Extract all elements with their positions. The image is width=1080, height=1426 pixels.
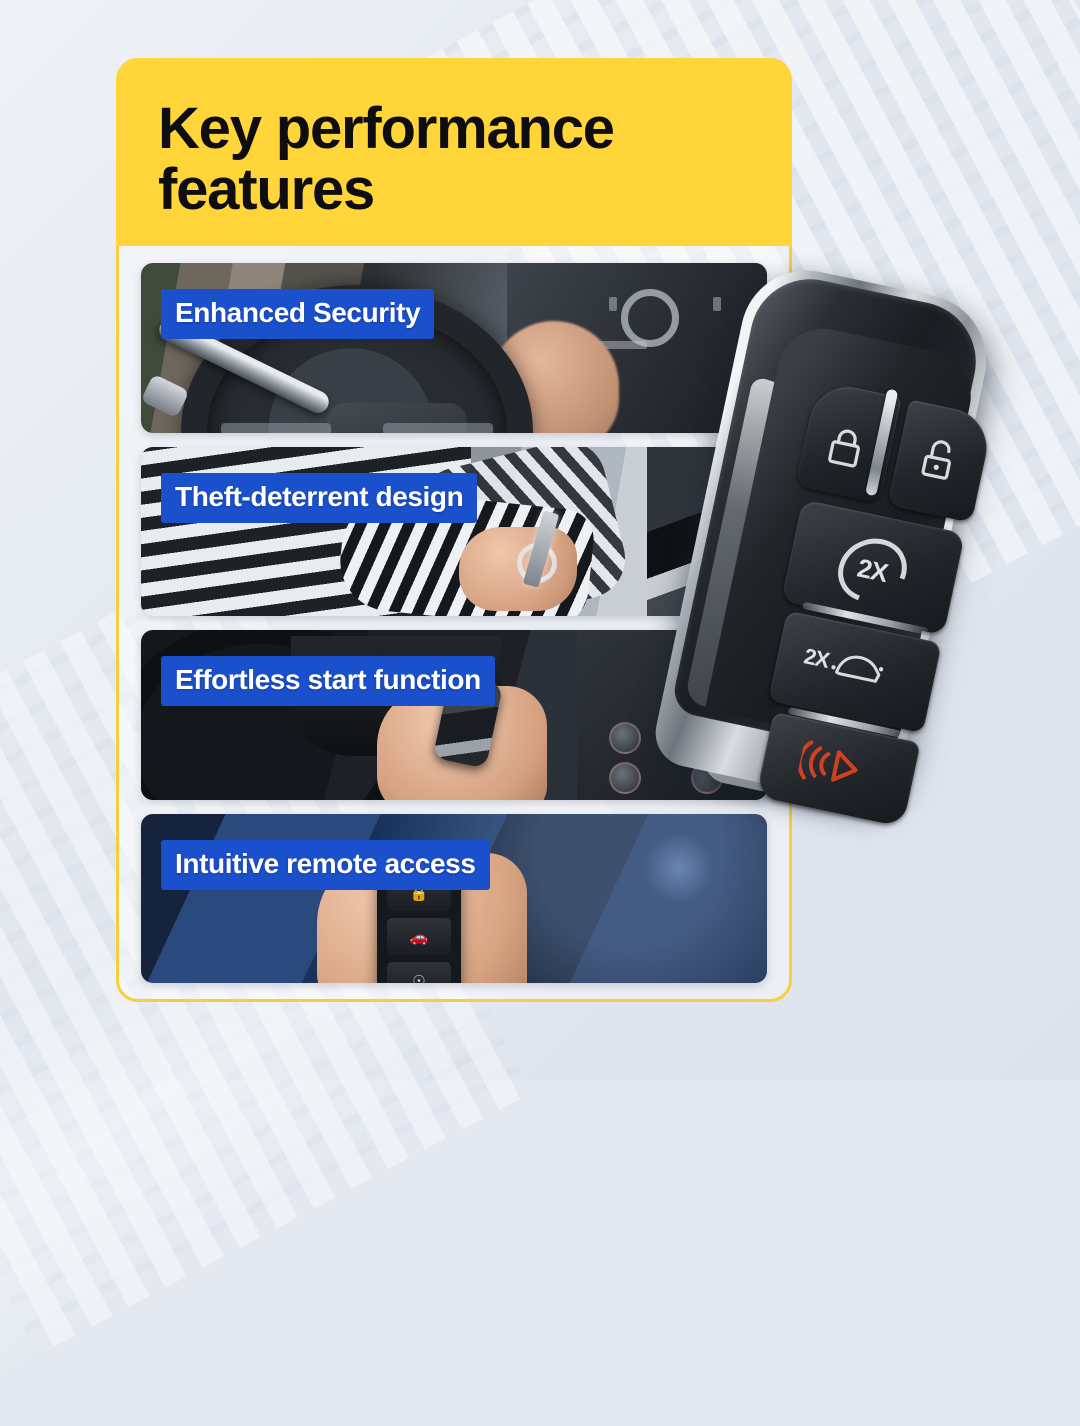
dashboard-vent-icon: [621, 289, 679, 347]
feature-item-theft-deterrent-design[interactable]: Theft-deterrent design: [141, 447, 767, 617]
feature-label-badge: Enhanced Security: [161, 289, 434, 339]
car-icon: 🚗: [387, 918, 451, 955]
console-knob-icon: [609, 722, 641, 754]
trunk-icon: ☉: [387, 962, 451, 984]
feature-label-badge: Intuitive remote access: [161, 840, 490, 890]
key-fob-button-face: 2X 2X: [705, 320, 979, 750]
dashboard-button-icon: [713, 297, 721, 311]
person-striped-shirt-with-keys-photo: [141, 447, 767, 617]
steering-wheel-spoke: [221, 423, 331, 433]
feature-label-badge: Theft-deterrent design: [161, 473, 477, 523]
remote-start-2x-label: 2X: [855, 552, 891, 589]
steering-wheel-spoke: [383, 423, 493, 433]
feature-item-intuitive-remote-access[interactable]: 🔒 🚗 ☉ Intuitive remote access: [141, 814, 767, 984]
dashboard-button-icon: [609, 297, 617, 311]
page-title: Key performance features: [158, 98, 792, 221]
feature-label-badge: Effortless start function: [161, 656, 495, 706]
bokeh-light: [643, 832, 715, 904]
trunk-2x-label: 2X: [801, 643, 831, 674]
card-header: Key performance features: [116, 58, 792, 246]
feature-item-enhanced-security[interactable]: Enhanced Security: [141, 263, 767, 433]
hand-holding-key-fob-photo: 🔒 🚗 ☉: [141, 814, 767, 984]
